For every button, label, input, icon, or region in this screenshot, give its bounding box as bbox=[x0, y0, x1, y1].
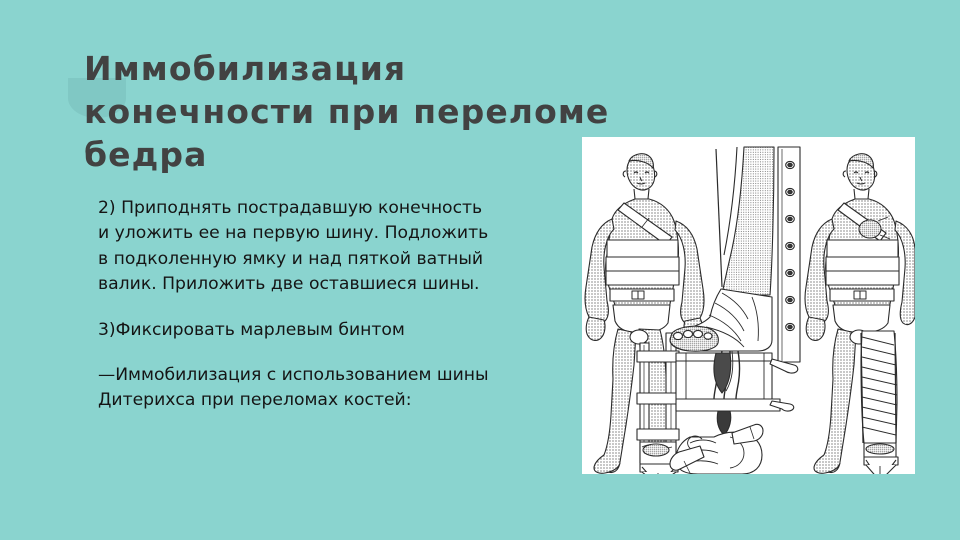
paragraph-step-2: 2) Приподнять пострадавшую конечность и … bbox=[98, 196, 618, 298]
medical-illustration-dieterichs-splint bbox=[582, 137, 915, 474]
illustration-drawing bbox=[582, 137, 915, 474]
page-title: Иммобилизация конечности при переломе бе… bbox=[84, 47, 644, 176]
paragraph-step-3: 3)Фиксировать марлевым бинтом bbox=[98, 318, 618, 343]
paragraph-note: —Иммобилизация с использованием шины Дит… bbox=[98, 363, 618, 414]
body-text-block: 2) Приподнять пострадавшую конечность и … bbox=[98, 196, 618, 414]
slide-canvas: Иммобилизация конечности при переломе бе… bbox=[0, 0, 960, 540]
